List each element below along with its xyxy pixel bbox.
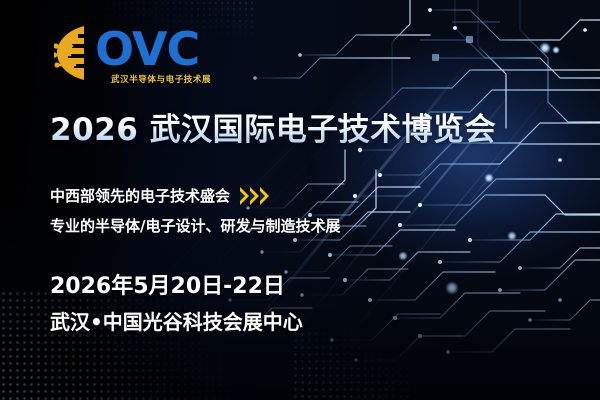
event-date: 2026年5月20日-22日 [50,268,285,300]
logo-subtitle: 武汉半导体与电子技术展 [111,73,211,85]
page-title: 2026 武汉国际电子技术博览会 [50,112,496,148]
poster-content: OVC 武汉半导体与电子技术展 2026 武汉国际电子技术博览会 中西部领先的电… [0,0,600,400]
ovc-circuit-chip-mark-icon [54,24,98,82]
chevron-arrows [239,187,269,205]
chevron-right-icon [260,187,269,205]
logo-text-block: OVC 武汉半导体与电子技术展 [95,24,211,85]
chevron-right-icon [240,187,249,205]
event-logo: OVC 武汉半导体与电子技术展 [54,24,211,85]
chevron-right-icon [250,187,259,205]
tagline-primary: 中西部领先的电子技术盛会 [50,185,269,206]
event-venue: 武汉•中国光谷科技会展中心 [50,306,303,335]
exhibition-poster: OVC 武汉半导体与电子技术展 2026 武汉国际电子技术博览会 中西部领先的电… [0,0,600,400]
tagline-primary-text: 中西部领先的电子技术盛会 [50,185,230,206]
logo-wordmark: OVC [95,26,211,72]
tagline-secondary: 专业的半导体/电子设计、研发与制造技术展 [50,215,340,236]
